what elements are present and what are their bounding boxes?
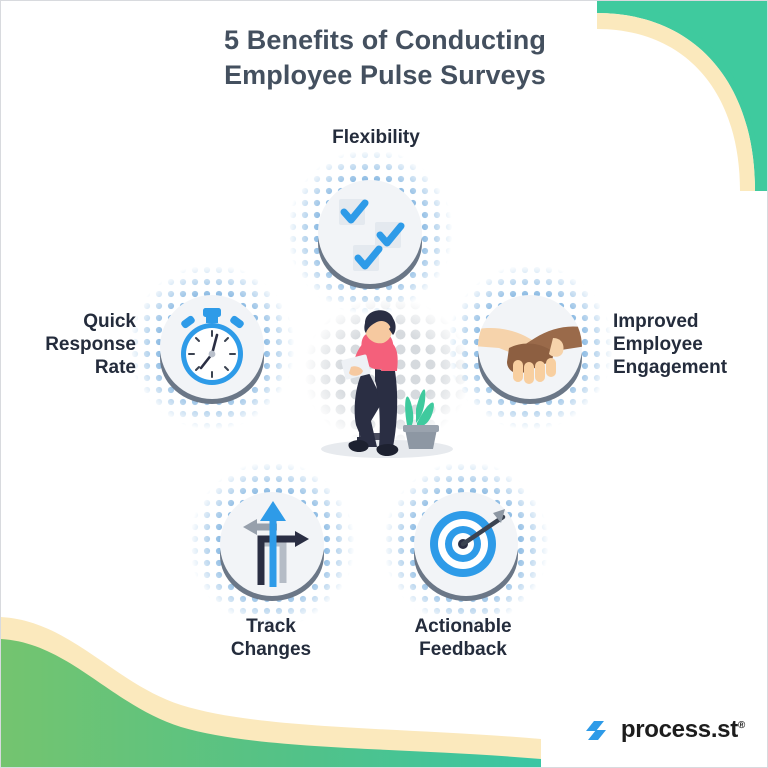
benefit-node-improved-employee-engagement[interactable] bbox=[469, 286, 591, 408]
infographic-canvas: 5 Benefits of Conducting Employee Pulse … bbox=[0, 0, 768, 768]
benefit-label-flexibility: Flexibility bbox=[226, 127, 526, 150]
brand-logo-suffix: .st bbox=[711, 716, 738, 743]
brand-logo-name: process bbox=[621, 716, 711, 743]
page-title: 5 Benefits of Conducting Employee Pulse … bbox=[1, 23, 768, 92]
process-st-logo-icon bbox=[582, 715, 612, 745]
benefit-label-track-changes: Track Changes bbox=[161, 616, 381, 662]
stopwatch-icon bbox=[151, 286, 273, 408]
brand-logo[interactable]: process.st® bbox=[582, 715, 745, 745]
arrows-junction-icon bbox=[211, 483, 333, 605]
page-title-line-1: 5 Benefits of Conducting bbox=[1, 23, 768, 58]
page-title-line-2: Employee Pulse Surveys bbox=[1, 58, 768, 93]
target-dart-icon bbox=[405, 483, 527, 605]
benefit-node-quick-response-rate[interactable] bbox=[151, 286, 273, 408]
brand-registered-mark: ® bbox=[738, 720, 745, 731]
checkmarks-icon bbox=[309, 171, 431, 293]
benefit-node-actionable-feedback[interactable] bbox=[405, 483, 527, 605]
handshake-icon bbox=[469, 286, 591, 408]
benefit-label-improved-employee-engagement: Improved Employee Engagement bbox=[613, 311, 763, 379]
benefit-label-actionable-feedback: Actionable Feedback bbox=[353, 616, 573, 662]
benefit-label-quick-response-rate: Quick Response Rate bbox=[11, 311, 136, 379]
woman-with-tablet-illustration bbox=[303, 297, 471, 469]
benefit-node-flexibility[interactable] bbox=[309, 171, 431, 293]
benefit-node-track-changes[interactable] bbox=[211, 483, 333, 605]
brand-logo-text: process.st® bbox=[621, 716, 745, 744]
